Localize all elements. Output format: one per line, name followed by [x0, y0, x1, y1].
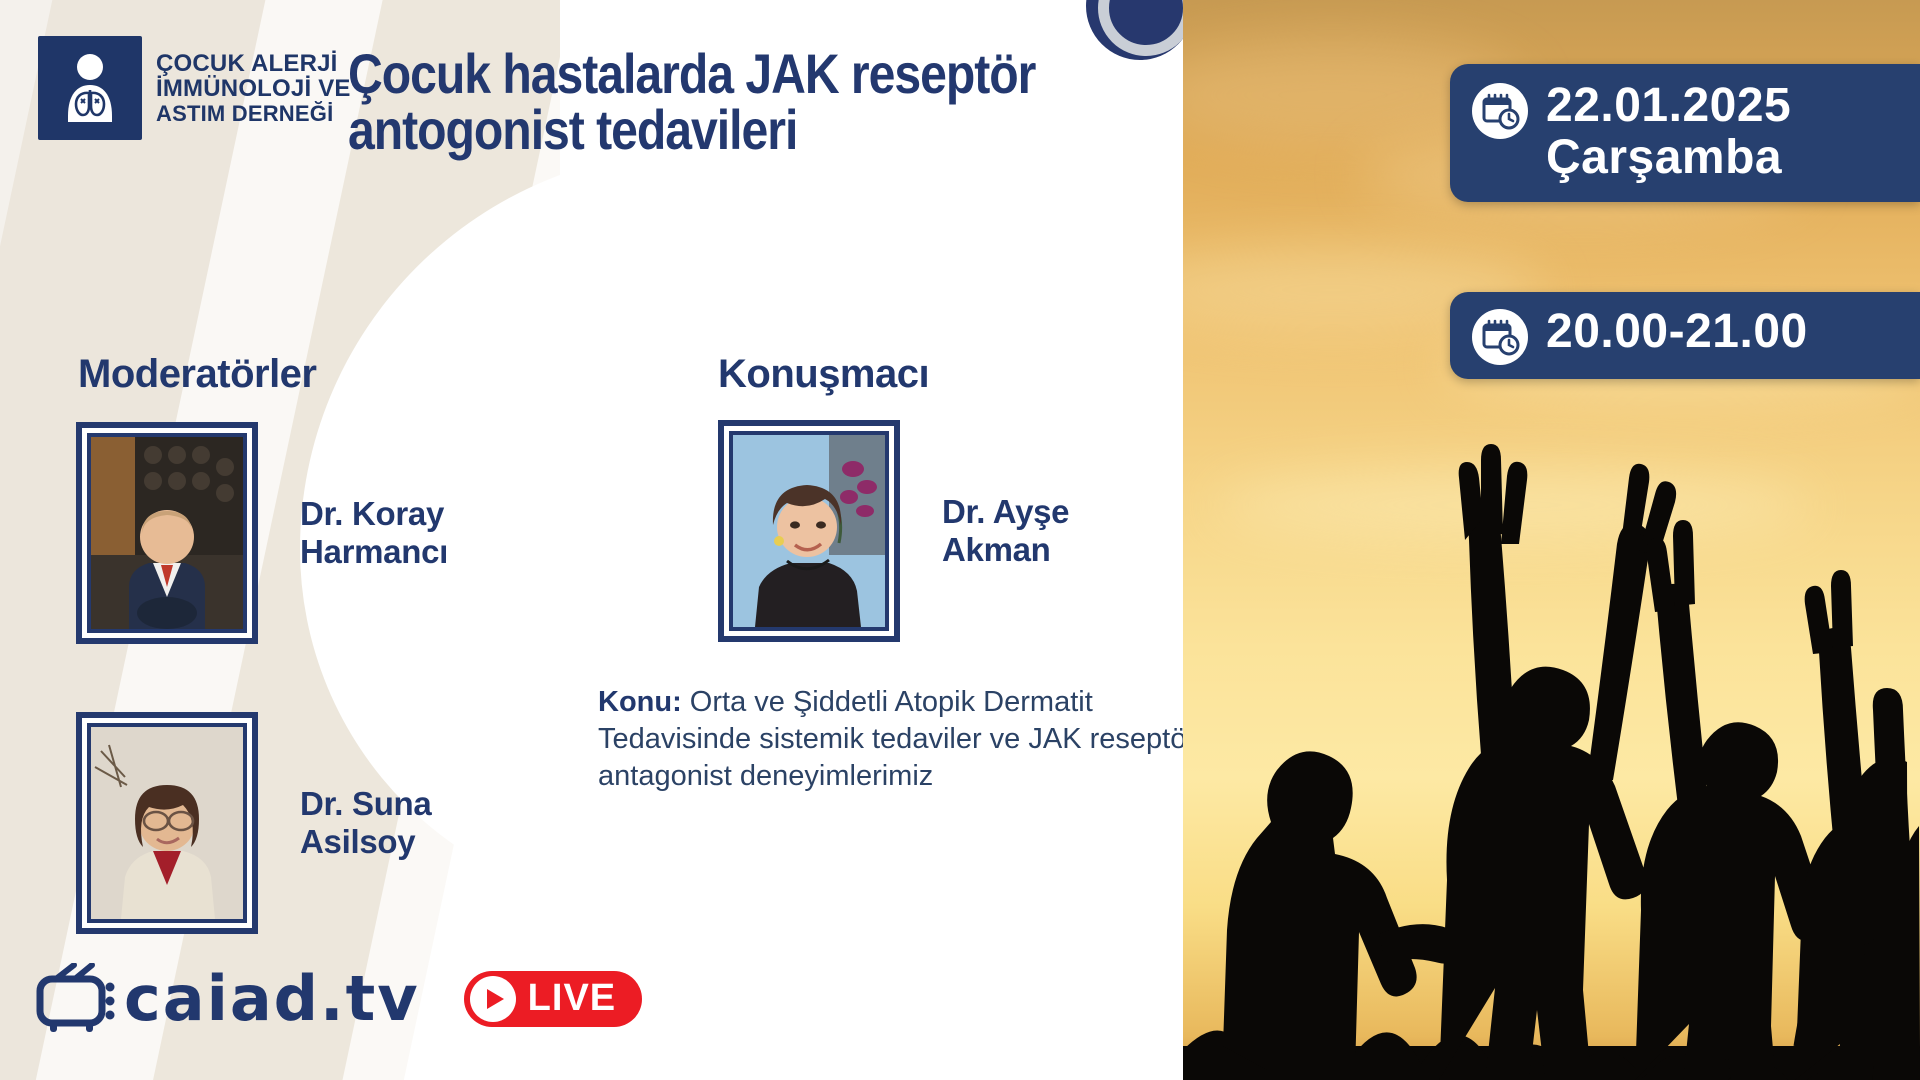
speaker-name: Dr. Ayşe Akman	[942, 493, 1069, 570]
avatar	[729, 431, 889, 631]
play-icon	[470, 976, 516, 1022]
live-badge[interactable]: LIVE	[464, 971, 642, 1027]
event-weekday: Çarşamba	[1546, 132, 1791, 184]
tv-icon	[34, 963, 120, 1035]
time-badge-text: 20.00-21.00	[1546, 306, 1808, 358]
moderator-name: Dr. Suna Asilsoy	[300, 785, 431, 862]
event-time: 20.00-21.00	[1546, 305, 1808, 358]
calendar-clock-icon	[1472, 83, 1528, 139]
moderator-name: Dr. Koray Harmancı	[300, 495, 448, 572]
site-branding[interactable]: caiad.tv LIVE	[34, 962, 642, 1035]
site-name: caiad.tv	[124, 962, 420, 1035]
topic-label: Konu:	[598, 686, 682, 718]
moderators-heading: Moderatörler	[78, 352, 317, 397]
topic-text: Orta ve Şiddetli Atopik Dermatit Tedavis…	[598, 686, 1183, 792]
hero-image: 22.01.2025 Çarşamba 20.00-21.00	[1183, 0, 1920, 1080]
speaker-item: Dr. Ayşe Akman	[718, 420, 1069, 642]
event-date: 22.01.2025	[1546, 79, 1791, 132]
organization-logo: ÇOCUK ALERJİ İMMÜNOLOJİ VE ASTIM DERNEĞİ	[38, 36, 351, 140]
moderator-item: Dr. Suna Asilsoy	[76, 712, 431, 934]
org-line-2: İMMÜNOLOJİ VE	[156, 76, 351, 101]
left-content-panel: ÇOCUK ALERJİ İMMÜNOLOJİ VE ASTIM DERNEĞİ…	[0, 0, 1183, 1080]
webinar-poster: ÇOCUK ALERJİ İMMÜNOLOJİ VE ASTIM DERNEĞİ…	[0, 0, 1920, 1080]
org-line-1: ÇOCUK ALERJİ	[156, 51, 351, 76]
org-line-3: ASTIM DERNEĞİ	[156, 102, 351, 125]
date-badge: 22.01.2025 Çarşamba	[1450, 64, 1920, 202]
page-title: Çocuk hastalarda JAK reseptör antogonist…	[348, 46, 1045, 158]
time-badge: 20.00-21.00	[1450, 292, 1920, 379]
portrait-frame	[718, 420, 900, 642]
portrait-frame	[76, 712, 258, 934]
live-label: LIVE	[528, 977, 616, 1020]
speaker-heading: Konuşmacı	[718, 352, 929, 397]
calendar-clock-icon	[1472, 309, 1528, 365]
portrait-frame	[76, 422, 258, 644]
person-lungs-icon	[38, 36, 142, 140]
date-badge-text: 22.01.2025 Çarşamba	[1546, 80, 1791, 184]
topic-description: Konu: Orta ve Şiddetli Atopik Dermatit T…	[598, 684, 1183, 795]
avatar	[87, 433, 247, 633]
avatar	[87, 723, 247, 923]
title-line-1: Çocuk hastalarda JAK reseptör	[348, 46, 1045, 102]
title-line-2: antogonist tedavileri	[348, 102, 1045, 158]
organization-name: ÇOCUK ALERJİ İMMÜNOLOJİ VE ASTIM DERNEĞİ	[156, 51, 351, 125]
moderator-item: Dr. Koray Harmancı	[76, 422, 448, 644]
